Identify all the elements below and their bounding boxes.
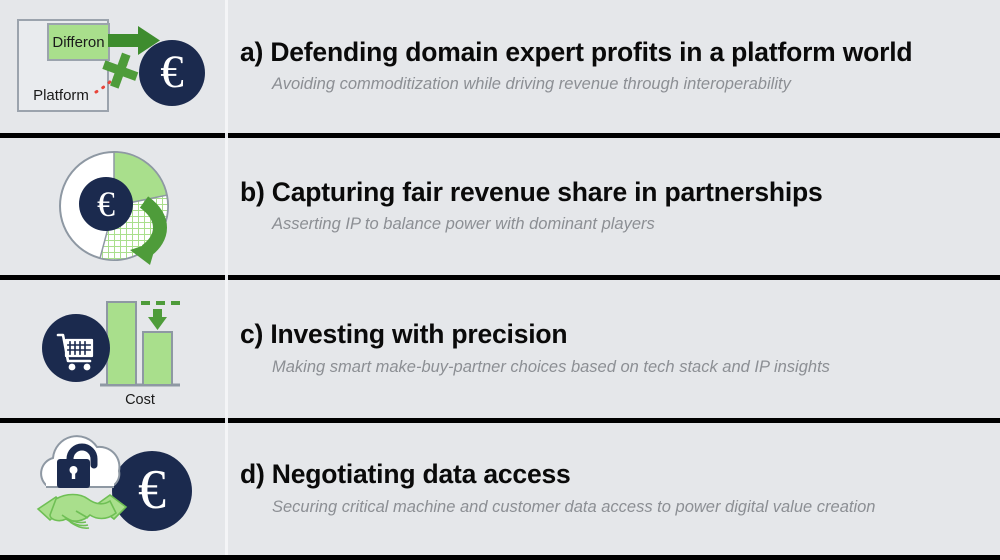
row-separator-2 xyxy=(0,275,1000,280)
content-row-a: Differon Platform € a) xyxy=(0,0,1000,133)
platform-box-label: Platform xyxy=(33,87,89,104)
subline-a: Avoiding commoditization while driving r… xyxy=(272,75,1000,95)
icon-cost-reduction-bar-chart: Cost xyxy=(0,280,225,418)
row-separator-notch xyxy=(225,275,228,280)
row-separator-notch xyxy=(225,418,228,423)
column-divider-d xyxy=(225,423,228,555)
icon-revenue-share-pie-chart: € xyxy=(0,138,225,275)
cloud-unlock-handshake-svg: € xyxy=(0,423,225,555)
row-separator-notch xyxy=(225,133,228,138)
differon-box-label: Differon xyxy=(52,34,104,51)
text-block-d: d) Negotiating data access Securing crit… xyxy=(240,423,1000,555)
cost-reduction-bar-svg: Cost xyxy=(0,280,225,418)
content-row-b: € b) Capturing fair revenue share in par… xyxy=(0,138,1000,275)
row-separator-1 xyxy=(0,133,1000,138)
column-divider-b xyxy=(225,138,228,275)
bar-before xyxy=(107,302,136,385)
down-arrow-icon xyxy=(148,309,167,330)
subline-b: Asserting IP to balance power with domin… xyxy=(272,215,1000,235)
subline-d: Securing critical machine and customer d… xyxy=(272,498,1000,518)
headline-c: c) Investing with precision xyxy=(240,320,1000,350)
bottom-border xyxy=(0,555,1000,560)
headline-d: d) Negotiating data access xyxy=(240,460,1000,490)
slide-canvas: Differon Platform € a) xyxy=(0,0,1000,560)
headline-b: b) Capturing fair revenue share in partn… xyxy=(240,178,1000,208)
revenue-share-pie-svg: € xyxy=(0,138,225,275)
bar-chart-axis-label: Cost xyxy=(125,392,155,408)
column-divider-a xyxy=(225,0,228,133)
row-separator-3 xyxy=(0,418,1000,423)
column-divider-c xyxy=(225,280,228,418)
content-row-d: € xyxy=(0,423,1000,555)
icon-cloud-unlock-handshake-euro: € xyxy=(0,423,225,555)
text-block-c: c) Investing with precision Making smart… xyxy=(240,280,1000,418)
subline-c: Making smart make-buy-partner choices ba… xyxy=(272,358,1000,378)
headline-a: a) Defending domain expert profits in a … xyxy=(240,38,1000,68)
text-block-b: b) Capturing fair revenue share in partn… xyxy=(240,138,1000,275)
euro-symbol: € xyxy=(97,184,115,224)
icon-platform-differon-euro-diagram: Differon Platform € xyxy=(0,0,225,133)
platform-differon-euro-svg: Differon Platform € xyxy=(0,0,225,133)
bar-after xyxy=(143,332,172,385)
euro-symbol: € xyxy=(138,459,166,521)
euro-symbol: € xyxy=(160,46,184,98)
content-row-c: Cost c) Investing with precision Making … xyxy=(0,280,1000,418)
handshake-icon xyxy=(38,495,126,529)
text-block-a: a) Defending domain expert profits in a … xyxy=(240,0,1000,133)
